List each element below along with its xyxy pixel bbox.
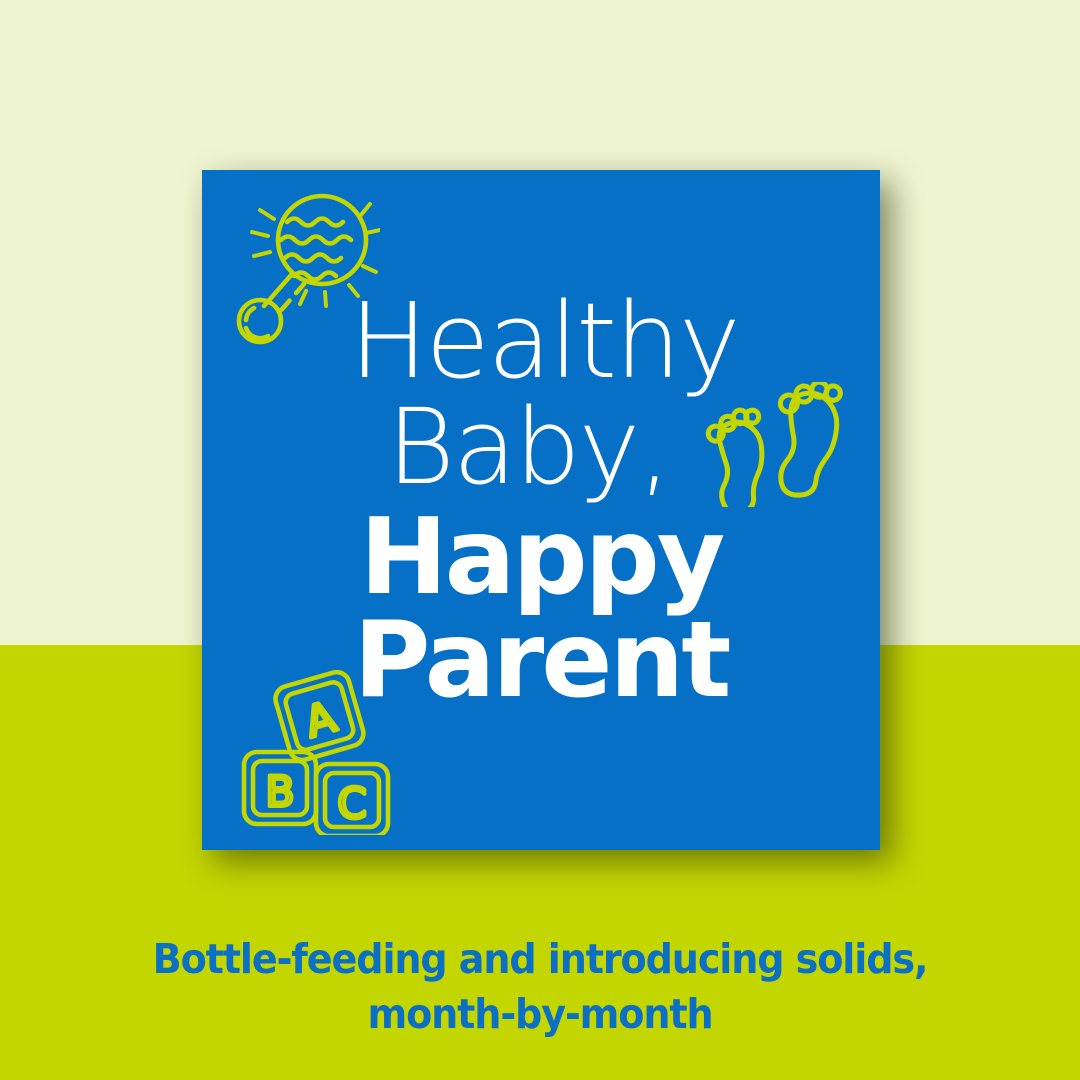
title-line-1: Healthy	[228, 288, 860, 394]
title-card: Healthy Baby, Happy Parent	[202, 170, 880, 850]
abc-blocks-icon: A B C	[232, 670, 402, 835]
baby-footprints-icon	[694, 382, 854, 507]
poster-canvas: Healthy Baby, Happy Parent	[0, 0, 1080, 1080]
svg-text:C: C	[337, 779, 366, 828]
subtitle-line-1: Bottle-feeding and introducing solids,	[38, 932, 1042, 987]
title-line-3: Happy	[222, 504, 860, 611]
svg-text:B: B	[266, 767, 295, 816]
subtitle-line-2: month-by-month	[38, 987, 1042, 1042]
poster-subtitle: Bottle-feeding and introducing solids, m…	[0, 932, 1080, 1042]
svg-text:A: A	[300, 692, 341, 747]
